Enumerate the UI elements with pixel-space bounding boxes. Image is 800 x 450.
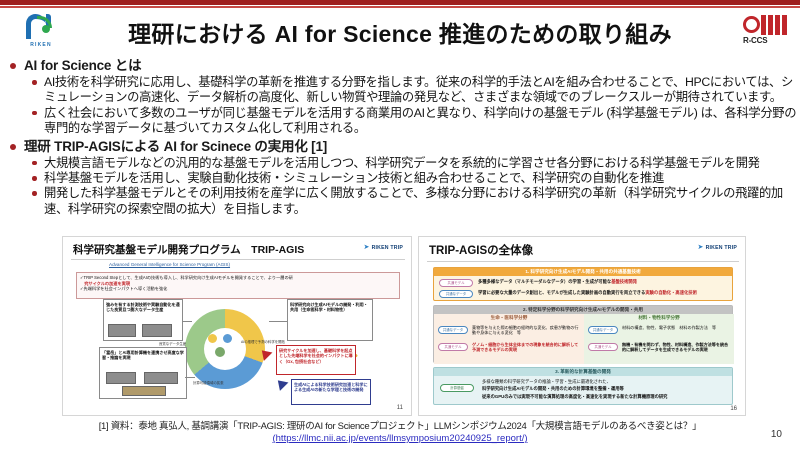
- callout-text: 強みを有する計測技術や実験自動化を通じた良質且つ膨大なデータ生産: [104, 300, 182, 314]
- bullet-section-1: AI for Science とは AI技術を科学研究に応用し、基礎科学の革新を…: [0, 58, 800, 137]
- page-number: 10: [771, 429, 782, 440]
- riken-mark-icon: [26, 14, 56, 41]
- band2-left-row-text: 薬物等を与えた際の細胞の経時的な変化、疾患が動物の行動や身体に与える変化 等: [472, 325, 580, 336]
- band2-right-col: [584, 314, 734, 364]
- mini-left-page-number: 11: [397, 405, 403, 411]
- sub-bullet-list-1: AI技術を科学研究に応用し、基礎科学の革新を推進する分野を指します。従来の科学的…: [24, 75, 800, 137]
- cycle-node-green: [215, 347, 225, 357]
- band3-row-text: 従来のGPUのみでは実現不可能な演算処理の高度化・高速化を実現する新たな計算機原…: [482, 394, 667, 400]
- photo-thumb: [122, 386, 166, 396]
- embedded-slide-trip-agis-overview[interactable]: TRIP-AGISの全体像 ➤ RIKEN TRIP 1. 科学研究向け生成AI…: [418, 236, 746, 416]
- riken-trip-badge-label: RIKEN TRIP: [372, 245, 403, 251]
- list-item: AI技術を科学研究に応用し、基礎科学の革新を推進する分野を指します。従来の科学的…: [24, 75, 800, 106]
- pill-label: 共通なデータ: [439, 290, 473, 298]
- riken-trip-badge: ➤ RIKEN TRIP: [364, 245, 403, 251]
- pill-label: 共通なデータ: [588, 326, 618, 334]
- band3-row-text: 多様な種類の科学研究データの推論・学習・生成に最適化された、: [482, 379, 611, 385]
- photo-thumb: [108, 324, 136, 337]
- cycle-node-blue: [223, 334, 232, 343]
- rccs-mark-icon: [742, 14, 786, 36]
- key-point-line: ✓先端科学を社会インパクトへ導く活動を強化: [80, 286, 396, 292]
- band2-col-right-header: 材料・物性科学分野: [584, 315, 734, 321]
- band2-col-left-header: 生命・医科学分野: [434, 315, 584, 321]
- slide-body: AI for Science とは AI技術を科学研究に応用し、基礎科学の革新を…: [0, 58, 800, 218]
- mini-right-title: TRIP-AGISの全体像: [429, 242, 533, 258]
- cycle-label-data: 良質なデータ生産: [159, 341, 186, 346]
- band2-left-col: [434, 314, 584, 364]
- band-domain-models: 2. 特定科学分野の科学研究向け生成AIモデルの開発・共用 生命・医科学分野 材…: [433, 305, 733, 363]
- divider: [71, 259, 405, 260]
- red-note-text: 研究サイクルを加速し、基礎科学を起点とした先端科学を社会的インパクトに導く（Gx…: [277, 346, 355, 366]
- photo-thumb: [106, 372, 136, 384]
- slide-footer: [1] 資料：泰地 真弘人, 基調講演「TRIP-AGIS: 理研のAI for…: [0, 418, 800, 444]
- mini-right-page-number: 16: [730, 406, 737, 412]
- riken-logo: RIKEN: [22, 14, 60, 52]
- band3-header: 3. 革新的な計算基盤の開発: [434, 368, 732, 376]
- connector-line: [182, 321, 192, 322]
- callout-genai-model: 科学研究向け生成AIモデルの開発・利用・共用（生命医科学・材料物性）: [287, 299, 373, 341]
- chevron-icon: ➤: [364, 245, 370, 251]
- band2-left-row-text: ゲノム・細胞から生体全体までの現象を統合的に解析して予測できるモデルの実現: [472, 342, 580, 353]
- band1-row-text: 多種多様なデータ（マルチモーダルなデータ）の学習・生成が可能な基盤技術開発: [478, 279, 637, 285]
- slide-header: RIKEN 理研における AI for Science 推進のための取り組み R…: [0, 8, 800, 54]
- top-accent-bar: [0, 0, 800, 5]
- cycle-label-ai: AIの推理で予測の科学を開拓: [241, 339, 273, 344]
- band2-right-row-text: 材料の構造、物性、電子状態 材料の作製方法 等: [622, 325, 730, 330]
- pill-label: 共通モデル: [588, 343, 618, 351]
- mini-left-title: 科学研究基盤モデル開発プログラム TRIP-AGIS: [73, 242, 304, 257]
- sub-bullet-text: 科学基盤モデルを活用し、実験自動化技術・シミュレーション技術と組み合わせることで…: [44, 171, 800, 186]
- photo-thumb: [144, 372, 178, 384]
- pill-label: 計算基盤: [440, 384, 474, 392]
- bullet-heading: 理研 TRIP-AGISによる AI for Scinece の実用化 [1]: [24, 139, 800, 155]
- chevron-icon: ➤: [698, 245, 704, 251]
- band2-header: 2. 特定科学分野の科学研究向け生成AIモデルの開発・共用: [434, 306, 732, 314]
- list-item: 科学基盤モデルを活用し、実験自動化技術・シミュレーション技術と組み合わせることで…: [24, 171, 800, 186]
- bullet-list: AI for Science とは AI技術を科学研究に応用し、基礎科学の革新を…: [0, 58, 800, 217]
- reference-text: [1] 資料：泰地 真弘人, 基調講演「TRIP-AGIS: 理研のAI for…: [0, 418, 800, 432]
- sub-bullet-text: 開発した科学基盤モデルとその利用技術を産学に広く開放することで、多様な分野におけ…: [44, 186, 800, 217]
- page-title: 理研における AI for Science 推進のための取り組み: [110, 12, 690, 52]
- divider: [427, 261, 739, 262]
- list-item: 開発した科学基盤モデルとその利用技術を産学に広く開放することで、多様な分野におけ…: [24, 186, 800, 217]
- bullet-section-2: 理研 TRIP-AGISによる AI for Scinece の実用化 [1] …: [0, 139, 800, 218]
- band1-header: 1. 科学研究向け生成AIモデル開発・共用の共通基盤技術: [434, 268, 732, 276]
- pill-label: 共通モデル: [439, 279, 473, 287]
- pill-label: 共通モデル: [438, 343, 468, 351]
- rccs-logo-wordmark: R-CCS: [743, 36, 786, 45]
- cycle-label-compute: 計算可能領域の拡張: [193, 380, 224, 385]
- embedded-slide-trip-agis-program[interactable]: 科学研究基盤モデル開発プログラム TRIP-AGIS ➤ RIKEN TRIP …: [62, 236, 412, 416]
- band2-right-row-text: 無機・有機を問わず、物性、材料構造、作製方法等を統合的に解釈してデータを生成でき…: [622, 342, 730, 353]
- band-compute-infrastructure: 3. 革新的な計算基盤の開発 計算基盤 多様な種類の科学研究データの推論・学習・…: [433, 367, 733, 405]
- list-item: 大規模言語モデルなどの汎用的な基盤モデルを活用しつつ、科学研究データを系統的に学…: [24, 156, 800, 171]
- sub-bullet-text: 広く社会において多数のユーザが同じ基盤モデルを活用する商業用のAIと異なり、科学…: [44, 106, 800, 137]
- mini-left-subtitle: Advanced General Intelligence for Scienc…: [109, 262, 230, 267]
- blue-arrow-icon: [274, 376, 289, 391]
- pill-label: 共通なデータ: [438, 326, 468, 334]
- key-points-box: ✓TRIP Second Stepとして、生成AIの技術も導入し、科学研究向け生…: [76, 272, 400, 299]
- callout-fugaku-ai: 「富岳」とAI専用計算機を連携させ高度な学習・推論を実現: [99, 347, 187, 399]
- callout-measurement-tech: 強みを有する計測技術や実験自動化を通じた良質且つ膨大なデータ生産: [103, 299, 183, 341]
- sub-bullet-list-2: 大規模言語モデルなどの汎用的な基盤モデルを活用しつつ、科学研究データを系統的に学…: [24, 156, 800, 218]
- connector-line: [185, 377, 195, 378]
- sub-bullet-text: AI技術を科学研究に応用し、基礎科学の革新を推進する分野を指します。従来の科学的…: [44, 75, 800, 106]
- reference-url[interactable]: (https://llmc.nii.ac.jp/events/llmsympos…: [0, 433, 800, 444]
- rccs-logo: R-CCS: [742, 14, 786, 52]
- list-item: 広く社会において多数のユーザが同じ基盤モデルを活用する商業用のAIと異なり、科学…: [24, 106, 800, 137]
- sub-bullet-text: 大規模言語モデルなどの汎用的な基盤モデルを活用しつつ、科学研究データを系統的に学…: [44, 156, 800, 171]
- band3-row-text: 科学研究向け生成AIモデルの開発・共用のための計算環境を整備・運用等: [482, 386, 624, 392]
- callout-text: 科学研究向け生成AIモデルの開発・利用・共用（生命医科学・材料物性）: [288, 300, 372, 314]
- reference-link[interactable]: (https://llmc.nii.ac.jp/events/llmsympos…: [272, 433, 527, 444]
- riken-trip-badge-label: RIKEN TRIP: [706, 245, 737, 251]
- callout-text: 「富岳」とAI専用計算機を連携させ高度な学習・推論を実現: [100, 348, 186, 362]
- blue-note-box: 生成AIによる科学技術研究加速と科学による生成AIの新たな学理と技術の開発: [291, 379, 371, 405]
- band1-row-text: 学習に必要な大量のデータ創出と、モデルが生成した実験計画の自動実行を両立できる実…: [478, 290, 697, 296]
- photo-thumb: [142, 324, 172, 337]
- cycle-node-yellow: [208, 334, 217, 343]
- research-cycle-donut: [185, 309, 265, 389]
- riken-logo-wordmark: RIKEN: [22, 42, 60, 48]
- riken-trip-badge: ➤ RIKEN TRIP: [698, 245, 737, 251]
- connector-line: [269, 321, 287, 322]
- bullet-heading: AI for Science とは: [24, 58, 800, 74]
- blue-note-text: 生成AIによる科学技術研究加速と科学による生成AIの新たな学理と技術の開発: [292, 380, 370, 395]
- red-note-box: 研究サイクルを加速し、基礎科学を起点とした先端科学を社会的インパクトに導く（Gx…: [276, 345, 356, 375]
- band-common-foundation: 1. 科学研究向け生成AIモデル開発・共用の共通基盤技術 共通モデル 多種多様な…: [433, 267, 733, 301]
